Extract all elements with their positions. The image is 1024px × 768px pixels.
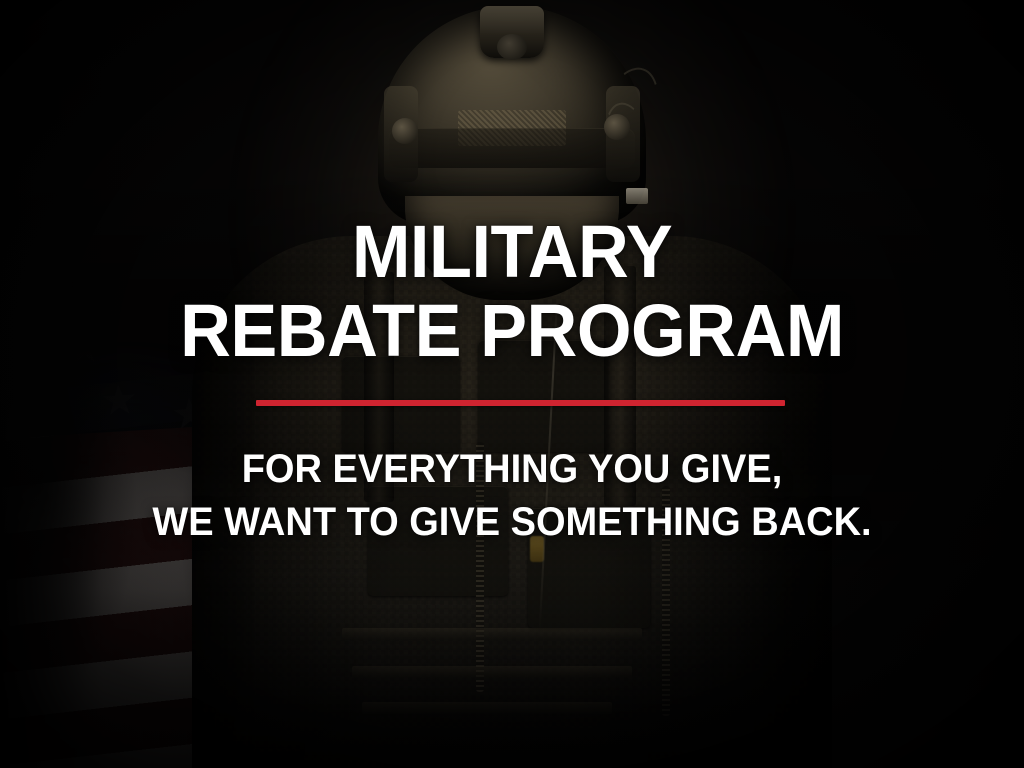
- subheadline-line-2: WE WANT TO GIVE SOMETHING BACK.: [26, 501, 999, 544]
- accent-divider-rule: [256, 400, 785, 406]
- text-overlay: MILITARY REBATE PROGRAM FOR EVERYTHING Y…: [0, 0, 1024, 768]
- headline-line-2: REBATE PROGRAM: [26, 295, 999, 366]
- headline: MILITARY REBATE PROGRAM: [0, 216, 1024, 366]
- headline-line-1: MILITARY: [26, 216, 999, 287]
- subheadline-line-1: FOR EVERYTHING YOU GIVE,: [26, 448, 999, 491]
- poster-canvas: MILITARY REBATE PROGRAM FOR EVERYTHING Y…: [0, 0, 1024, 768]
- subheadline: FOR EVERYTHING YOU GIVE, WE WANT TO GIVE…: [0, 448, 1024, 544]
